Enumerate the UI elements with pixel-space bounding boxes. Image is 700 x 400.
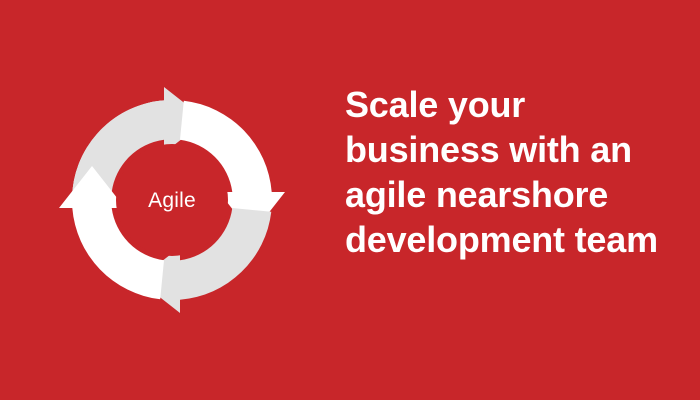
cycle-diagram-svg — [58, 86, 286, 314]
agile-cycle-diagram: Agile — [58, 86, 286, 314]
cycle-inner-hole — [116, 144, 228, 256]
page-title: Scale your business with an agile nearsh… — [345, 82, 675, 262]
agile-banner: Agile Scale your business with an agile … — [0, 0, 700, 400]
